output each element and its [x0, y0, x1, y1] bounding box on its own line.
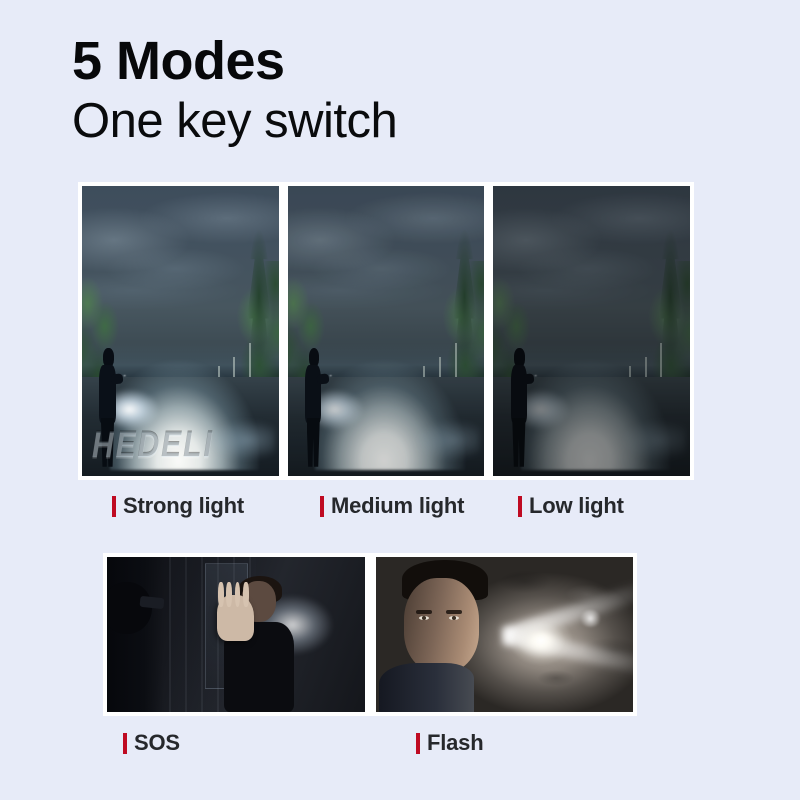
indoor-sos-scene [107, 557, 365, 712]
mode-photo-flash [376, 557, 634, 712]
mode-gallery-row-2 [103, 553, 637, 716]
mode-caption-flash: Flash [416, 730, 483, 756]
finger [243, 582, 249, 607]
caption-marker-icon [123, 733, 127, 754]
person-silhouette [301, 348, 327, 464]
night-road-scene [288, 186, 485, 476]
caption-label: SOS [134, 730, 180, 756]
mode-photo-low-light [493, 186, 690, 476]
eye [419, 616, 429, 620]
person-silhouette [96, 348, 122, 464]
eye [449, 616, 459, 620]
person-silhouette [507, 348, 533, 464]
finger [218, 582, 224, 607]
mode-photo-medium-light [288, 186, 485, 476]
silhouette-arm [316, 373, 329, 385]
headline-block: 5 Modes One key switch [72, 34, 692, 149]
caption-marker-icon [518, 496, 522, 517]
silhouette-legs [307, 418, 320, 467]
person-shielding-eyes [215, 576, 303, 712]
caption-marker-icon [416, 733, 420, 754]
foreground-silhouette [107, 557, 164, 712]
flash-face-scene [376, 557, 634, 712]
silhouette-legs [512, 418, 525, 467]
caption-label: Strong light [123, 493, 244, 519]
mode-caption-low-light: Low light [518, 493, 624, 519]
mode-caption-strong-light: Strong light [112, 493, 244, 519]
silhouette-legs [101, 418, 114, 467]
caption-label: Low light [529, 493, 624, 519]
night-road-scene: HEDELI [82, 186, 279, 476]
person-face [404, 578, 479, 672]
eyebrow [446, 610, 462, 614]
flashlight-icon [328, 375, 331, 377]
flashlight-icon [534, 375, 537, 377]
night-road-scene [493, 186, 690, 476]
page-subtitle: One key switch [72, 95, 692, 149]
light-beam-spill [596, 412, 686, 458]
caption-label: Medium light [331, 493, 464, 519]
finger [226, 582, 232, 607]
foreground-head [107, 582, 152, 635]
caption-label: Flash [427, 730, 483, 756]
eyebrow [416, 610, 432, 614]
page-title: 5 Modes [72, 34, 692, 89]
finger [235, 582, 241, 607]
light-beam-spill [390, 412, 480, 458]
mode-photo-strong-light: HEDELI [82, 186, 279, 476]
mode-photo-sos [107, 557, 365, 712]
caption-marker-icon [320, 496, 324, 517]
caption-marker-icon [112, 496, 116, 517]
lens-flare-orb [579, 610, 602, 627]
flashlight-icon [122, 375, 125, 377]
light-beam-spill [184, 412, 274, 458]
person-shoulder [379, 663, 474, 712]
mans-face [386, 560, 499, 712]
mode-caption-medium-light: Medium light [320, 493, 464, 519]
raised-hand-icon [217, 595, 254, 641]
mode-gallery-row-1: HEDELI [78, 182, 694, 480]
mode-caption-sos: SOS [123, 730, 180, 756]
